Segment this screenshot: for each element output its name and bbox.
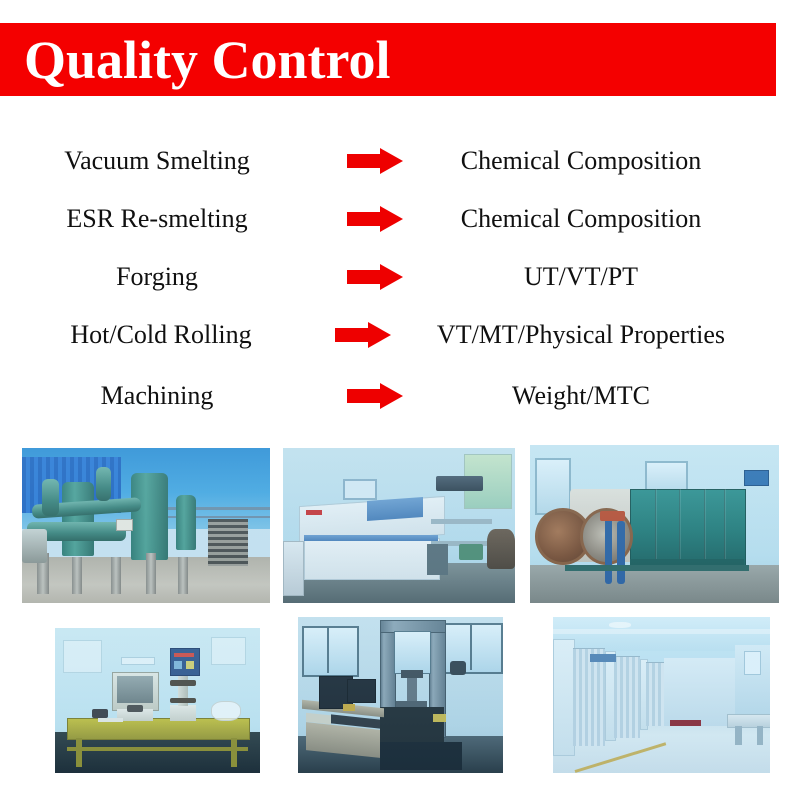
photo-tensile-testing-machine[interactable]	[298, 617, 503, 773]
process-row: Forging UT/VT/PT	[0, 256, 800, 298]
process-flow-list: Vacuum Smelting Chemical Composition ESR…	[0, 130, 800, 430]
arrow-cell	[330, 383, 420, 409]
process-stage-label: ESR Re-smelting	[0, 204, 330, 234]
arrow-cell	[330, 264, 420, 290]
process-row: ESR Re-smelting Chemical Composition	[0, 198, 800, 240]
process-check-label: Weight/MTC	[420, 381, 800, 411]
process-stage-label: Vacuum Smelting	[0, 146, 330, 176]
arrow-cell	[326, 322, 400, 348]
arrow-cell	[330, 206, 420, 232]
process-check-label: Chemical Composition	[420, 204, 800, 234]
process-stage-label: Hot/Cold Rolling	[0, 320, 326, 350]
process-row: Machining Weight/MTC	[0, 375, 800, 417]
right-arrow-icon	[347, 383, 403, 409]
header-banner: Quality Control	[0, 23, 776, 96]
photo-hardness-testing-bench[interactable]	[55, 628, 260, 773]
page-title: Quality Control	[0, 33, 391, 87]
process-check-label: VT/MT/Physical Properties	[400, 320, 800, 350]
photo-inspection-hall-corridor[interactable]	[553, 617, 770, 773]
process-stage-label: Forging	[0, 262, 330, 292]
photo-spectrometer-lab[interactable]	[283, 448, 515, 603]
process-check-label: UT/VT/PT	[420, 262, 800, 292]
process-row: Vacuum Smelting Chemical Composition	[0, 140, 800, 182]
photo-vacuum-annealing-furnace[interactable]	[530, 445, 779, 603]
process-stage-label: Machining	[0, 381, 330, 411]
right-arrow-icon	[335, 322, 391, 348]
process-check-label: Chemical Composition	[420, 146, 800, 176]
arrow-cell	[330, 148, 420, 174]
right-arrow-icon	[347, 206, 403, 232]
photo-vacuum-smelting-furnace[interactable]	[22, 448, 270, 603]
process-row: Hot/Cold Rolling VT/MT/Physical Properti…	[0, 314, 800, 356]
right-arrow-icon	[347, 148, 403, 174]
right-arrow-icon	[347, 264, 403, 290]
